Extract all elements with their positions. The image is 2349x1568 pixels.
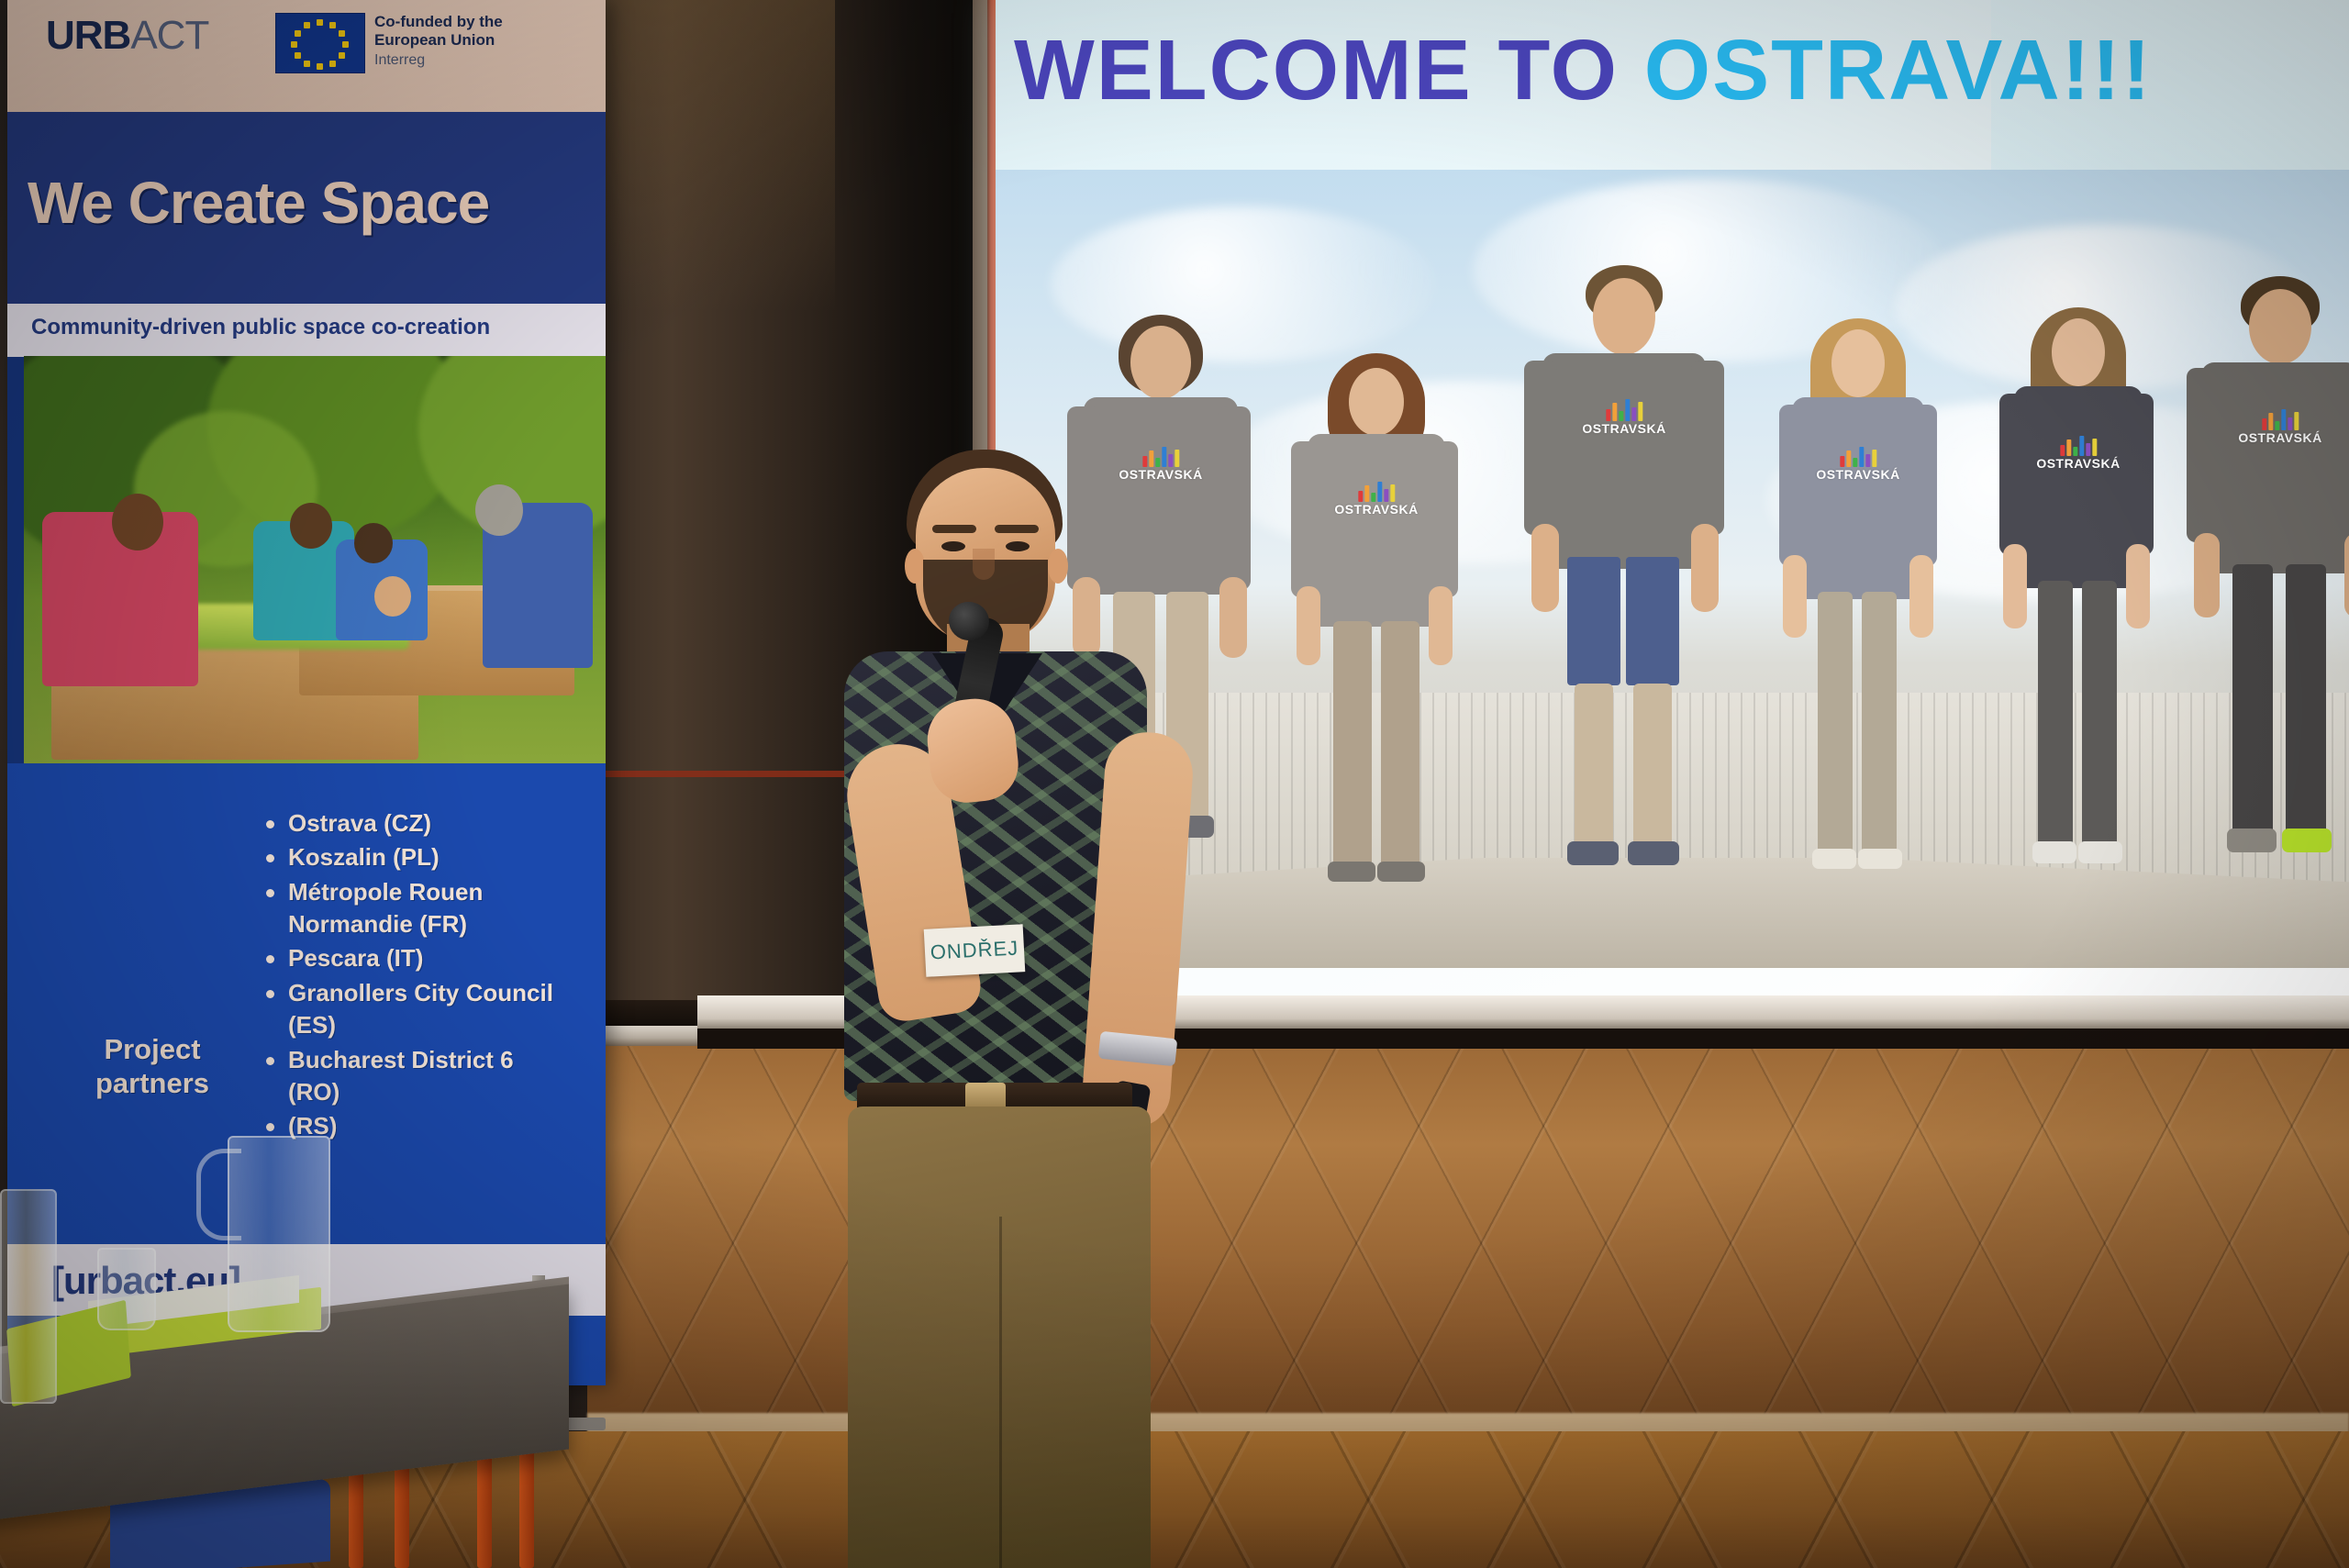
slide-title-part2: OSTRAVA!!!	[1644, 22, 2153, 117]
speaker: ONDŘEJ	[752, 440, 1266, 1568]
speaker-eye	[1006, 541, 1030, 551]
slide-title: WELCOME TO OSTRAVA!!!	[1014, 28, 2340, 113]
drinking-glass	[97, 1248, 156, 1330]
speaker-eyebrow	[995, 525, 1039, 533]
urbact-logo-light: ACT	[130, 13, 208, 58]
slide-person: OSTRAVSKÁ	[1528, 263, 1720, 896]
urbact-logo-bold: URB	[46, 13, 130, 58]
speaker-ear	[1048, 549, 1068, 584]
list-item: Ostrava (CZ)	[264, 807, 567, 840]
partners-label: Project partners	[61, 1032, 244, 1100]
presentation-scene: WELCOME TO OSTRAVA!!! OSTRAV	[0, 0, 2349, 1568]
banner-title: We Create Space	[28, 169, 596, 237]
partners-label-line2: partners	[61, 1066, 244, 1100]
name-badge-text: ONDŘEJ	[930, 936, 1019, 964]
curtain-highlight	[606, 0, 835, 312]
name-badge: ONDŘEJ	[924, 924, 1026, 977]
slide-person: OSTRAVSKÁ	[1996, 300, 2161, 896]
water-jug	[228, 1136, 330, 1332]
banner-subtitle: Community-driven public space co-creatio…	[31, 315, 600, 340]
tshirt-text: OSTRAVSKÁ	[1582, 421, 1665, 436]
urbact-logo: URBACT	[46, 13, 208, 59]
speaker-eye	[941, 541, 965, 551]
tshirt-text: OSTRAVSKÁ	[1334, 502, 1418, 517]
partners-list: Ostrava (CZ) Koszalin (PL) Métropole Rou…	[264, 807, 567, 1145]
list-item: Bucharest District 6 (RO)	[264, 1044, 567, 1109]
slide-person: OSTRAVSKÁ	[1776, 309, 1941, 896]
eu-flag-icon	[275, 13, 365, 73]
tshirt-text: OSTRAVSKÁ	[2238, 430, 2321, 445]
partners-label-line1: Project	[61, 1032, 244, 1066]
list-item: Koszalin (PL)	[264, 841, 567, 873]
eu-funding-line2: European Union	[374, 31, 604, 50]
eu-funding-line1: Co-funded by the	[374, 13, 604, 31]
slide-person: OSTRAVSKÁ	[2188, 272, 2349, 896]
slide-title-part1: WELCOME TO	[1014, 22, 1644, 117]
banner-garden-photo	[24, 356, 606, 763]
speaker-ear	[905, 549, 925, 584]
speaker-nose	[973, 549, 995, 580]
list-item: Granollers City Council (ES)	[264, 977, 567, 1042]
list-item: Métropole Rouen Normandie (FR)	[264, 876, 567, 941]
speaker-eyebrow	[932, 525, 976, 533]
tshirt-text: OSTRAVSKÁ	[2036, 456, 2120, 471]
slide-person: OSTRAVSKÁ	[1289, 346, 1464, 896]
speaker-pants	[848, 1106, 1151, 1568]
tshirt-text: OSTRAVSKÁ	[1816, 467, 1899, 482]
list-item: Pescara (IT)	[264, 942, 567, 974]
eu-programme-name: Interreg	[374, 52, 604, 69]
eu-funding-text: Co-funded by the European Union Interreg	[374, 13, 604, 69]
bottle	[0, 1189, 57, 1404]
